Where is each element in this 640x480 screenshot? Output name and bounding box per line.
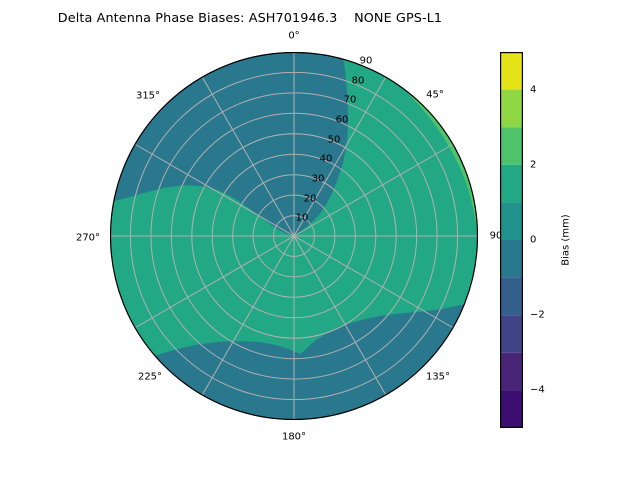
cbar-band-3 (500, 278, 523, 316)
polar-plot-svg (110, 52, 478, 420)
r-label-50: 50 (328, 135, 341, 146)
r-label-20: 20 (304, 194, 317, 205)
cbar-band-1 (500, 353, 523, 391)
r-label-70: 70 (344, 95, 357, 106)
cbar-tick-label-2: 2 (530, 159, 536, 170)
theta-label-225: 225° (138, 372, 162, 383)
page-title: Delta Antenna Phase Biases: ASH701946.3 … (0, 11, 500, 26)
cbar-band-9 (500, 52, 523, 90)
cbar-band-8 (500, 90, 523, 128)
theta-label-45: 45° (426, 90, 444, 101)
theta-label-180: 180° (282, 432, 306, 443)
cbar-band-7 (500, 127, 523, 165)
r-label-10: 10 (296, 213, 309, 224)
theta-label-270: 270° (76, 233, 100, 244)
cbar-tick-label-4: 4 (530, 84, 536, 95)
colorbar-svg (500, 52, 523, 428)
colorbar[interactable]: 4 2 0 −2 −4 (500, 52, 523, 428)
cbar-band-4 (500, 240, 523, 278)
r-label-90: 90 (360, 56, 373, 67)
polar-axes[interactable]: 0° 45° 90 135° 180° 225° 270° 315° 10 20… (110, 52, 478, 420)
figure-canvas: Delta Antenna Phase Biases: ASH701946.3 … (0, 0, 640, 480)
cbar-tick-label-0: 0 (530, 235, 536, 246)
colorbar-axis-label: Bias (mm) (561, 214, 572, 265)
cbar-band-5 (500, 202, 523, 240)
cbar-band-2 (500, 315, 523, 353)
r-label-60: 60 (336, 115, 349, 126)
theta-label-315: 315° (136, 91, 160, 102)
r-label-40: 40 (320, 154, 333, 165)
cbar-band-6 (500, 165, 523, 203)
colorbar-bands (500, 52, 523, 428)
theta-label-0: 0° (288, 31, 299, 42)
cbar-tick-label-neg4: −4 (530, 385, 545, 396)
r-label-30: 30 (312, 174, 325, 185)
cbar-band-0 (500, 390, 523, 428)
r-label-80: 80 (352, 76, 365, 87)
cbar-tick-label-neg2: −2 (530, 310, 545, 321)
theta-label-135: 135° (426, 372, 450, 383)
